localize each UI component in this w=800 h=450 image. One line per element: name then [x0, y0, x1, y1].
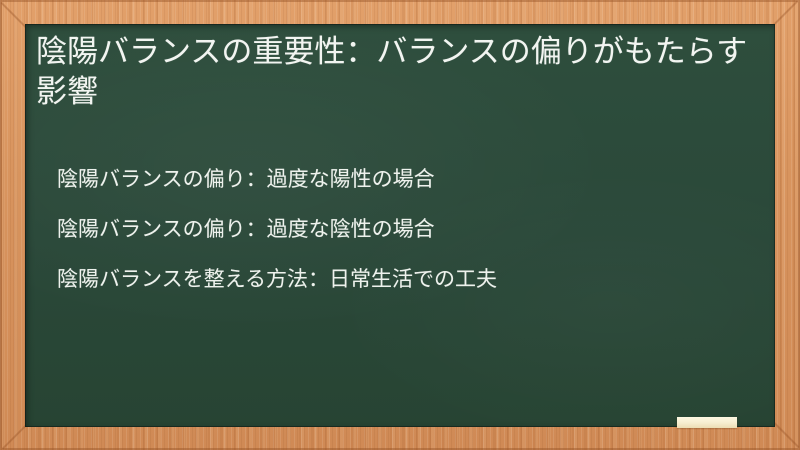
slide-title: 陰陽バランスの重要性：バランスの偏りがもたらす影響 — [36, 32, 754, 113]
chalkboard-slide: 陰陽バランスの重要性：バランスの偏りがもたらす影響 陰陽バランスの偏り：過度な陽… — [0, 0, 800, 450]
slide-bullet-list: 陰陽バランスの偏り：過度な陽性の場合 陰陽バランスの偏り：過度な陰性の場合 陰陽… — [57, 154, 757, 304]
list-item: 陰陽バランスの偏り：過度な陽性の場合 — [57, 154, 757, 204]
chalk-stick-icon — [677, 417, 737, 428]
chalkboard-surface: 陰陽バランスの重要性：バランスの偏りがもたらす影響 陰陽バランスの偏り：過度な陽… — [25, 24, 775, 427]
list-item: 陰陽バランスを整える方法：日常生活での工夫 — [57, 254, 757, 304]
list-item: 陰陽バランスの偏り：過度な陰性の場合 — [57, 204, 757, 254]
